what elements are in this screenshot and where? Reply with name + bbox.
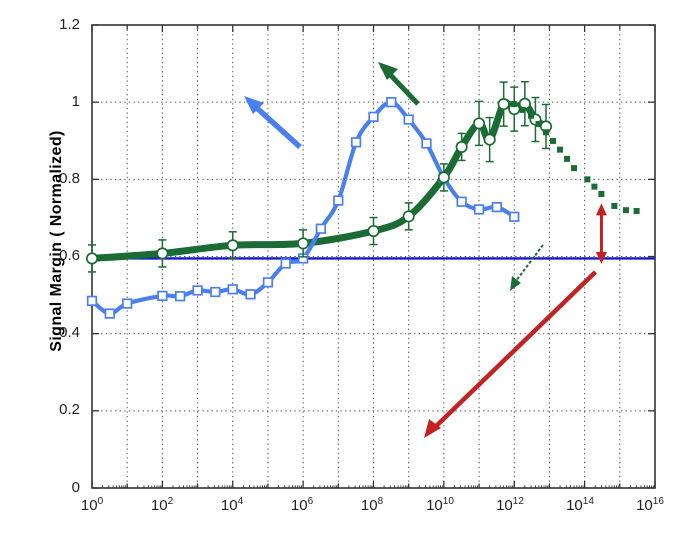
data-marker-intrinsic — [193, 286, 202, 295]
extrapolation-dot — [623, 207, 629, 213]
data-marker-fram — [228, 240, 238, 250]
data-marker-fram — [498, 99, 508, 109]
data-marker-intrinsic — [422, 139, 431, 148]
data-marker-fram — [298, 238, 308, 248]
data-marker-intrinsic — [211, 288, 220, 297]
data-marker-fram — [456, 142, 466, 152]
extrapolation-dot — [536, 121, 542, 127]
data-marker-intrinsic — [246, 290, 255, 299]
data-marker-intrinsic — [158, 292, 167, 301]
extrapolation-dot — [611, 203, 617, 209]
data-marker-fram — [439, 172, 449, 182]
data-marker-intrinsic — [228, 285, 237, 294]
data-marker-intrinsic — [264, 278, 273, 287]
extrapolation-dot — [634, 208, 640, 214]
extrapolation-dot — [564, 156, 570, 162]
data-marker-intrinsic — [369, 113, 378, 122]
data-marker-intrinsic — [105, 309, 114, 318]
extrapolation-dot — [550, 138, 556, 144]
data-marker-intrinsic — [387, 98, 396, 107]
data-marker-intrinsic — [457, 197, 466, 206]
data-marker-fram — [87, 253, 97, 263]
extrapolation-dot — [598, 191, 604, 197]
data-marker-intrinsic — [334, 196, 343, 205]
data-marker-fram — [474, 118, 484, 128]
data-marker-intrinsic — [510, 212, 519, 221]
chart-figure: Signal Margin ( Normalized) 1.2 1 0.8 0.… — [0, 0, 683, 534]
extrapolation-dot — [528, 113, 534, 119]
extrapolation-dot — [543, 129, 549, 135]
extrapolation-dot — [571, 165, 577, 171]
data-marker-intrinsic — [88, 297, 97, 306]
data-marker-intrinsic — [281, 259, 290, 268]
data-marker-intrinsic — [317, 224, 326, 233]
data-marker-intrinsic — [493, 203, 502, 212]
extrapolation-dot — [584, 176, 590, 182]
extrapolation-dot — [520, 107, 526, 113]
data-marker-fram — [484, 134, 494, 144]
data-marker-intrinsic — [352, 138, 361, 147]
data-marker-fram — [403, 211, 413, 221]
data-marker-fram — [157, 248, 167, 258]
extrapolation-dot — [591, 184, 597, 190]
data-marker-intrinsic — [176, 292, 185, 301]
data-marker-intrinsic — [475, 205, 484, 214]
data-marker-intrinsic — [404, 115, 413, 124]
extrapolation-dot — [557, 147, 563, 153]
data-marker-intrinsic — [123, 299, 132, 308]
data-marker-fram — [368, 226, 378, 236]
extrapolation-dot — [511, 101, 517, 107]
chart-plot-area — [0, 0, 683, 534]
